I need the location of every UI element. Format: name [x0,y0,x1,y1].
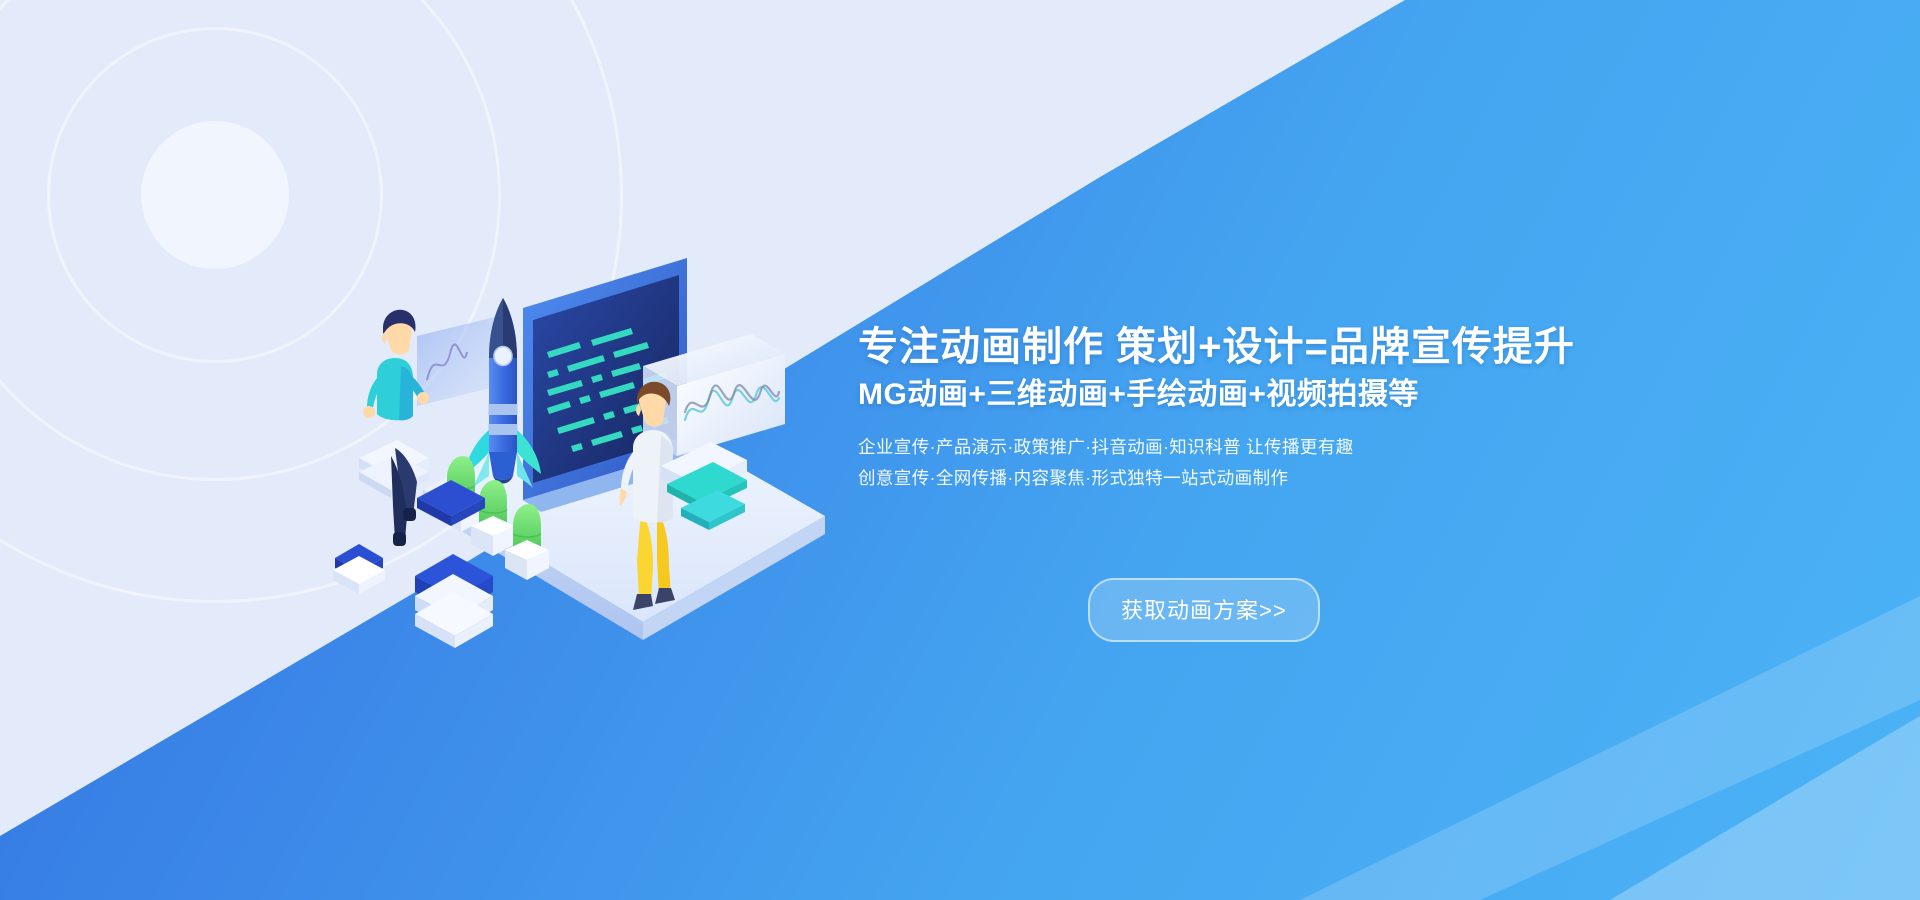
headline: 专注动画制作 策划+设计=品牌宣传提升 [858,326,1558,369]
isometric-illustration [355,280,825,680]
box-stack-lower [415,554,493,648]
description-line-1: 企业宣传·产品演示·政策推广·抖音动画·知识科普 让传播更有趣 [858,432,1558,463]
promo-banner: 专注动画制作 策划+设计=品牌宣传提升 MG动画+三维动画+手绘动画+视频拍摄等… [0,0,1920,900]
subheadline: MG动画+三维动画+手绘动画+视频拍摄等 [858,378,1558,411]
copy-block: 专注动画制作 策划+设计=品牌宣传提升 MG动画+三维动画+手绘动画+视频拍摄等… [858,326,1558,494]
get-animation-plan-button[interactable]: 获取动画方案>> [1088,578,1320,642]
description-line-2: 创意宣传·全网传播·内容聚焦·形式独特一站式动画制作 [858,463,1558,494]
cta-container: 获取动画方案>> [1088,578,1320,642]
